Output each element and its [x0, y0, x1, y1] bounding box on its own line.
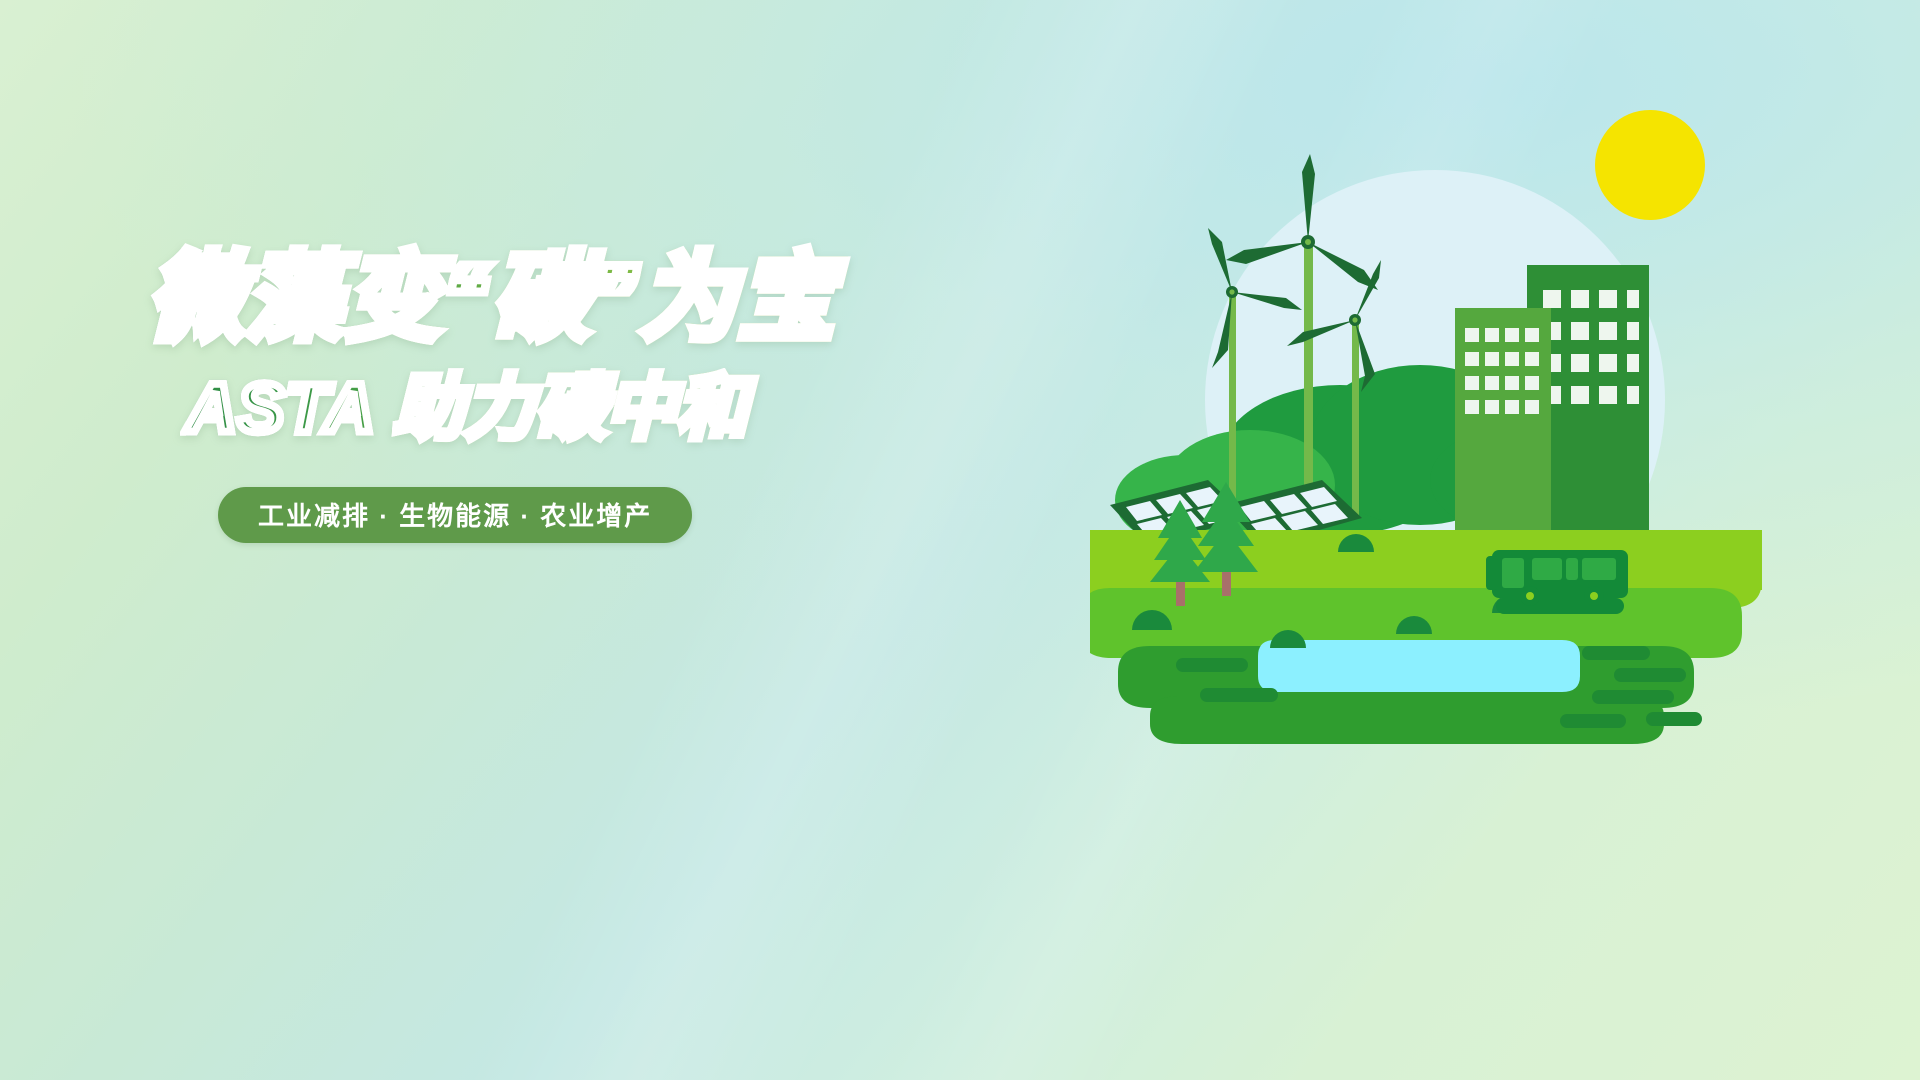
bus-icon — [1486, 550, 1628, 614]
sun-icon — [1595, 110, 1705, 220]
lake — [1258, 640, 1580, 692]
text-block: 微藻变“碳”为宝 ASTA 助力碳中和 工业减排 · 生物能源 · 农业增产 — [148, 248, 848, 543]
page-title: 微藻变“碳”为宝 — [148, 248, 848, 350]
eco-illustration — [1090, 60, 1790, 760]
tagline-badge: 工业减排 · 生物能源 · 农业增产 — [218, 487, 692, 543]
page-subtitle: ASTA 助力碳中和 — [186, 370, 848, 447]
eco-banner: 微藻变“碳”为宝 ASTA 助力碳中和 工业减排 · 生物能源 · 农业增产 — [0, 0, 1920, 1080]
